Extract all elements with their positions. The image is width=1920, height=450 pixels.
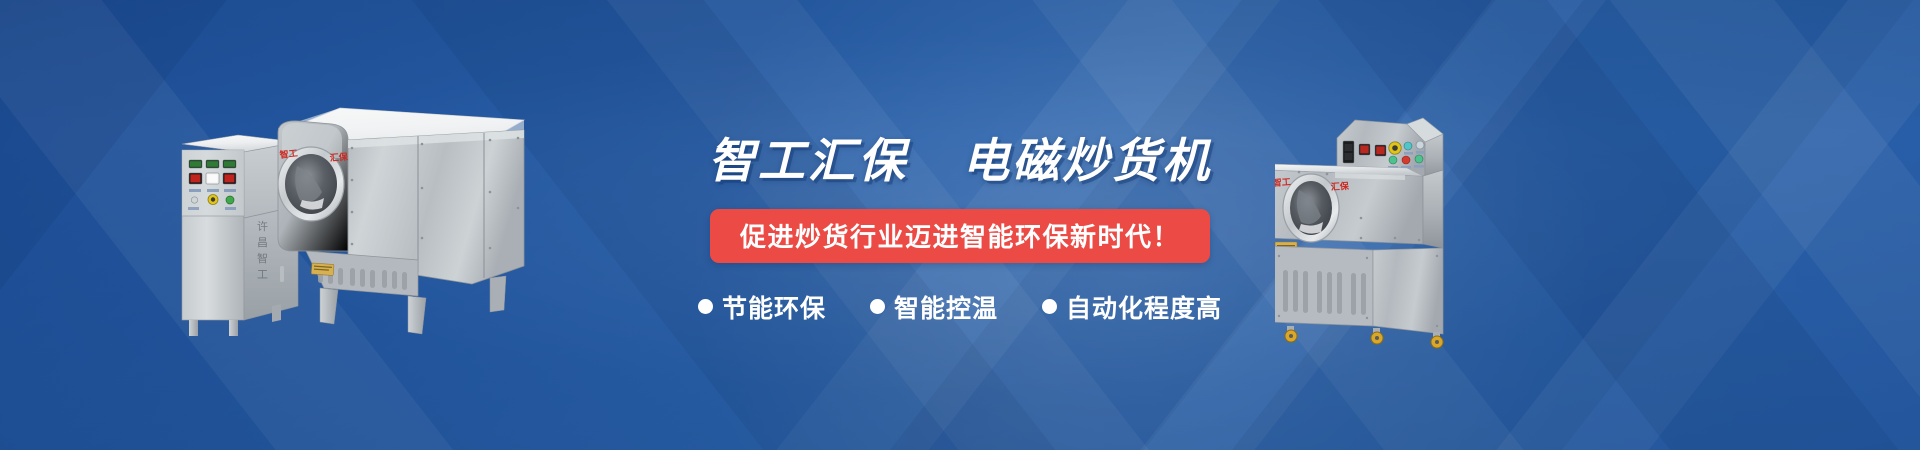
feature-label: 自动化程度高 <box>1066 289 1222 325</box>
slogan-ribbon: 促进炒货行业迈进智能环保新时代！ <box>710 209 1210 263</box>
feature-list: 节能环保 智能控温 自动化程度高 <box>0 289 1920 325</box>
feature-item-automation: 自动化程度高 <box>1042 289 1222 325</box>
feature-label: 智能控温 <box>894 289 998 325</box>
feature-item-smart-temperature: 智能控温 <box>870 289 998 325</box>
promo-banner: 许 昌 智 工 <box>0 0 1920 450</box>
bullet-dot-icon <box>1042 299 1057 314</box>
feature-label: 节能环保 <box>722 289 826 325</box>
headline-product: 电磁炒货机 <box>962 134 1212 187</box>
feature-item-energy-saving: 节能环保 <box>698 289 826 325</box>
headline-brand: 智工汇保 <box>708 134 908 187</box>
banner-copy-block: 智工汇保 电磁炒货机 促进炒货行业迈进智能环保新时代！ 节能环保 智能控温 自动… <box>0 136 1920 325</box>
bullet-dot-icon <box>870 299 885 314</box>
page-title: 智工汇保 电磁炒货机 <box>0 136 1920 187</box>
ribbon-wrapper: 促进炒货行业迈进智能环保新时代！ <box>0 209 1920 263</box>
bullet-dot-icon <box>698 299 713 314</box>
